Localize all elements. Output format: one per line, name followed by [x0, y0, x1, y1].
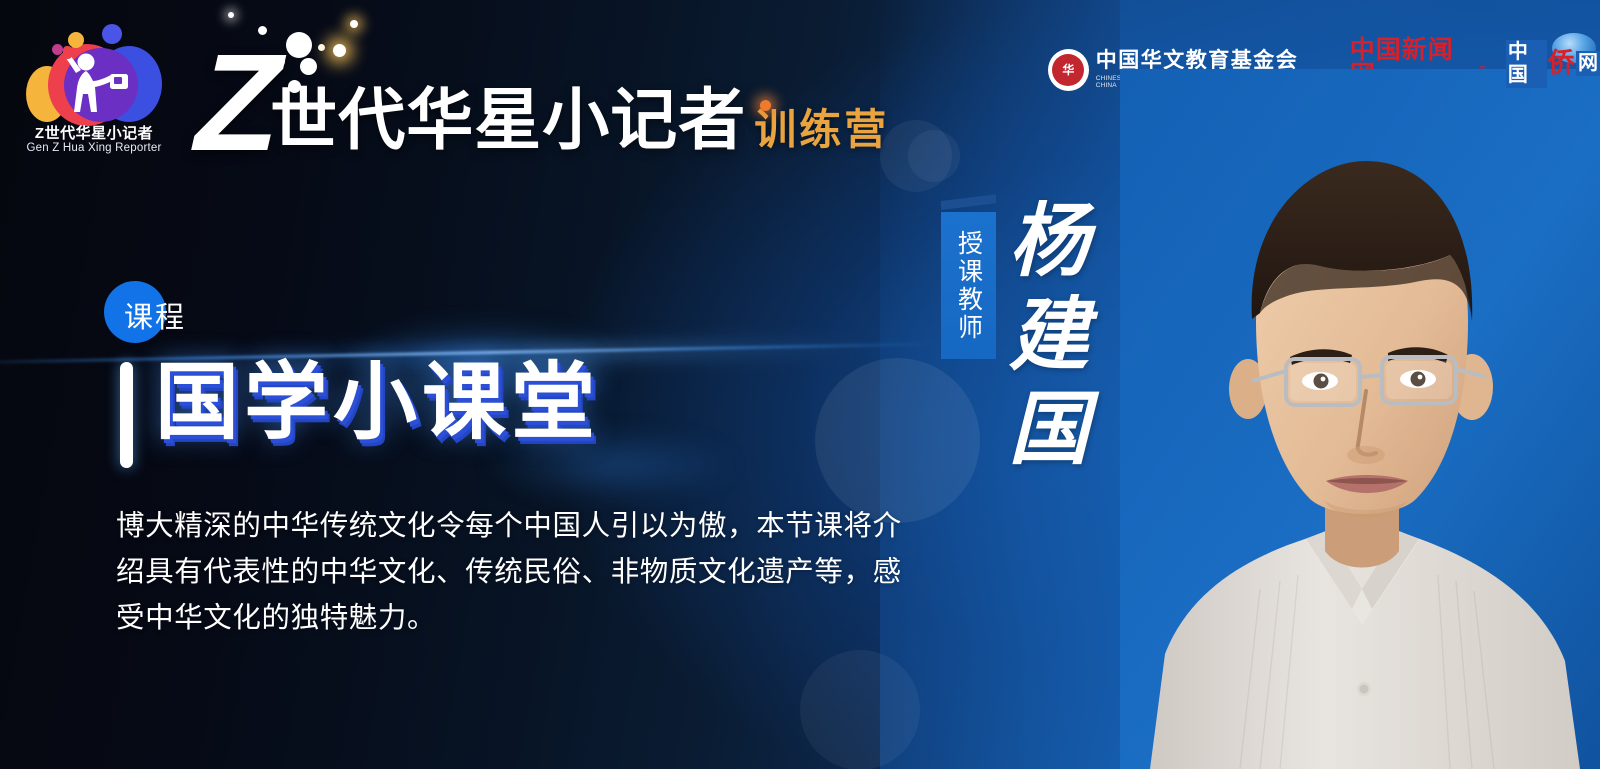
- partner-name-part1: 中国: [1506, 40, 1547, 88]
- sparkle-icon: [300, 58, 317, 75]
- course-title: 国学小课堂: [155, 358, 600, 447]
- instructor-name: 杨建国: [1000, 198, 1085, 480]
- decorative-circle: [800, 650, 920, 769]
- instructor-ribbon-label: 授课教师: [951, 230, 987, 342]
- course-description: 博大精深的中华传统文化令每个中国人引以为傲，本节课将介绍具有代表性的中华文化、传…: [116, 503, 906, 641]
- partner-name-part3: 网: [1576, 51, 1600, 76]
- glow-dot-icon: [228, 12, 234, 18]
- foundation-seal-icon: 华: [1048, 49, 1089, 91]
- teacher-portrait: [1120, 69, 1600, 769]
- sparkle-icon: [286, 32, 312, 58]
- sparkle-icon: [258, 26, 267, 35]
- ribbon-body: 授课教师: [941, 212, 996, 359]
- course-banner: Z世代华星小记者 Gen Z Hua Xing Reporter Z 世代华星小…: [0, 0, 1600, 769]
- reporter-figure-icon: [18, 14, 170, 124]
- logo-name-cn: Z世代华星小记者: [18, 122, 170, 143]
- seal-char: 华: [1052, 54, 1084, 86]
- title-letter-z: Z: [194, 47, 276, 160]
- course-title-row: 国学小课堂: [120, 358, 600, 468]
- glow-dot-icon: [350, 20, 358, 28]
- title-subtitle: 训练营: [754, 109, 889, 151]
- decorative-circle: [815, 358, 980, 523]
- sparkle-icon: [288, 80, 301, 93]
- glow-dot-icon: [760, 100, 771, 111]
- sparkle-icon: [274, 56, 285, 67]
- course-tag: 课程: [104, 281, 166, 323]
- partner-name-part2: 侨: [1548, 50, 1575, 77]
- brand-logo[interactable]: Z世代华星小记者 Gen Z Hua Xing Reporter: [18, 14, 170, 166]
- glow-dot-icon: [333, 44, 346, 57]
- instructor-ribbon: 授课教师: [941, 201, 996, 359]
- title-accent-bar: [120, 362, 133, 468]
- course-tag-label: 课程: [124, 294, 186, 336]
- title-main-cn: 世代华星小记者: [270, 87, 746, 154]
- sparkle-icon: [318, 44, 325, 51]
- decorative-circle: [908, 130, 960, 182]
- logo-name-en: Gen Z Hua Xing Reporter: [18, 142, 170, 154]
